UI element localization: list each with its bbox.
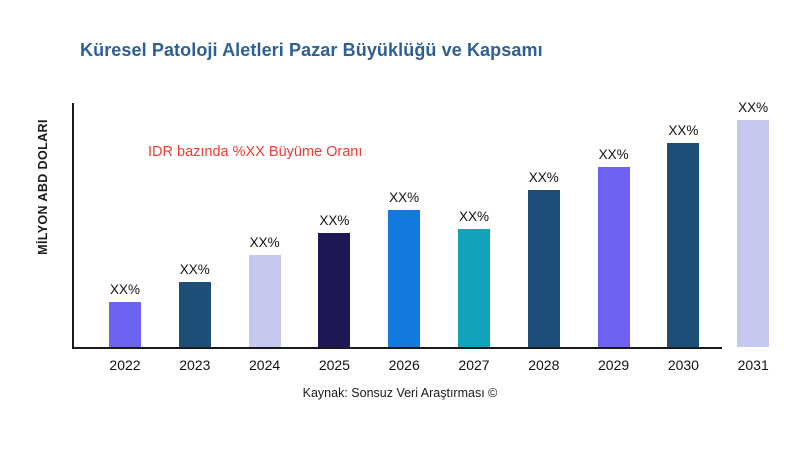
bar-value-label-2024: XX% — [233, 235, 297, 250]
x-tick-2030: 2030 — [651, 357, 715, 373]
x-tick-2028: 2028 — [512, 357, 576, 373]
x-tick-2025: 2025 — [302, 357, 366, 373]
bar-rect-2029[interactable] — [598, 167, 630, 347]
bar-rect-2025[interactable] — [318, 233, 350, 347]
bar-value-label-2025: XX% — [302, 213, 366, 228]
bar-rect-2031[interactable] — [737, 120, 769, 347]
bar-rect-2023[interactable] — [179, 282, 211, 347]
x-tick-2027: 2027 — [442, 357, 506, 373]
x-tick-2029: 2029 — [582, 357, 646, 373]
bar-value-label-2022: XX% — [93, 282, 157, 297]
bar-value-label-2031: XX% — [721, 100, 785, 115]
bar-2031[interactable]: XX% — [737, 120, 769, 347]
bar-rect-2022[interactable] — [109, 302, 141, 347]
bar-2027[interactable]: XX% — [458, 229, 490, 347]
bar-2030[interactable]: XX% — [667, 143, 699, 347]
bar-2023[interactable]: XX% — [179, 282, 211, 347]
bar-value-label-2026: XX% — [372, 190, 436, 205]
chart-title: Küresel Patoloji Aletleri Pazar Büyüklüğ… — [80, 40, 543, 61]
source-note: Kaynak: Sonsuz Veri Araştırması © — [0, 386, 800, 400]
y-axis-line — [72, 103, 74, 349]
bar-value-label-2029: XX% — [582, 147, 646, 162]
bar-2024[interactable]: XX% — [249, 255, 281, 347]
x-axis-line — [72, 347, 722, 349]
bar-rect-2030[interactable] — [667, 143, 699, 347]
bar-value-label-2027: XX% — [442, 209, 506, 224]
bar-value-label-2023: XX% — [163, 262, 227, 277]
bar-value-label-2028: XX% — [512, 170, 576, 185]
bar-rect-2026[interactable] — [388, 210, 420, 347]
bar-2025[interactable]: XX% — [318, 233, 350, 347]
bar-2026[interactable]: XX% — [388, 210, 420, 347]
bar-rect-2024[interactable] — [249, 255, 281, 347]
x-tick-2022: 2022 — [93, 357, 157, 373]
chart-container: Küresel Patoloji Aletleri Pazar Büyüklüğ… — [0, 0, 800, 450]
bar-2028[interactable]: XX% — [528, 190, 560, 347]
y-axis-label: MİLYON ABD DOLARI — [36, 62, 50, 312]
bar-rect-2028[interactable] — [528, 190, 560, 347]
x-tick-2031: 2031 — [721, 357, 785, 373]
bar-2029[interactable]: XX% — [598, 167, 630, 347]
x-tick-2024: 2024 — [233, 357, 297, 373]
bar-2022[interactable]: XX% — [109, 302, 141, 347]
x-tick-2026: 2026 — [372, 357, 436, 373]
x-tick-2023: 2023 — [163, 357, 227, 373]
bar-value-label-2030: XX% — [651, 123, 715, 138]
bar-rect-2027[interactable] — [458, 229, 490, 347]
plot-area: XX%XX%XX%XX%XX%XX%XX%XX%XX%XX% — [72, 103, 784, 349]
